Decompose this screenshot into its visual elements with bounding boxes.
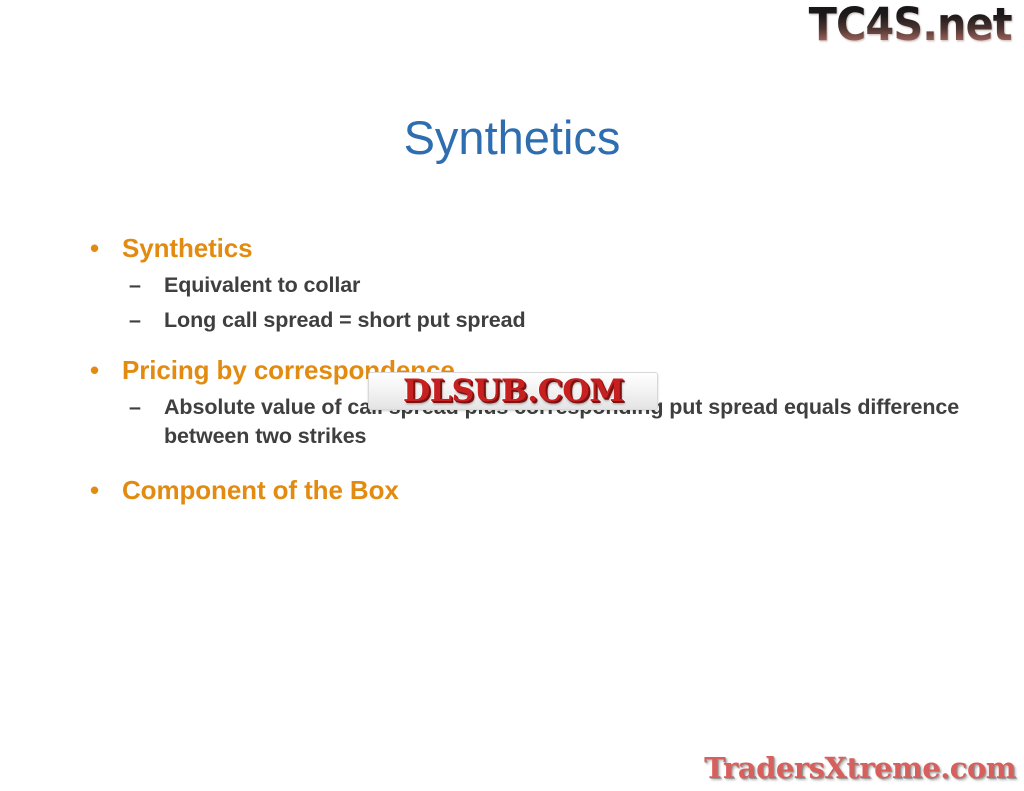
watermark-text: DLSUB.COM <box>403 376 624 407</box>
bullet-text: Component of the Box <box>122 475 399 505</box>
bullet-item-level2: – Long call spread = short put spread <box>80 306 960 334</box>
list-spacer <box>80 340 960 354</box>
bullet-item-level2: – Equivalent to collar <box>80 271 960 299</box>
bullet-text: Long call spread = short put spread <box>164 308 525 332</box>
slide-title: Synthetics <box>0 112 1024 164</box>
slide-body-list: • Synthetics – Equivalent to collar – Lo… <box>80 232 960 509</box>
bullet-dot-icon: • <box>90 354 99 387</box>
dash-marker-icon: – <box>129 306 141 334</box>
bullet-item-level1: • Component of the Box <box>80 474 960 507</box>
bullet-item-level1: • Synthetics <box>80 232 960 265</box>
bullet-dot-icon: • <box>90 474 99 507</box>
tc4s-brand-logo: TC4S.net <box>809 2 1012 47</box>
dash-marker-icon: – <box>129 271 141 299</box>
tradersxtreme-footer-logo: TradersXtreme.com <box>704 754 1016 783</box>
bullet-text: Equivalent to collar <box>164 273 360 297</box>
dash-marker-icon: – <box>129 393 141 421</box>
bullet-text: Synthetics <box>122 233 253 263</box>
list-spacer <box>80 456 960 474</box>
presentation-slide: TC4S.net Synthetics • Synthetics – Equiv… <box>0 0 1024 791</box>
bullet-dot-icon: • <box>90 232 99 265</box>
dlsub-watermark: DLSUB.COM <box>368 372 658 410</box>
